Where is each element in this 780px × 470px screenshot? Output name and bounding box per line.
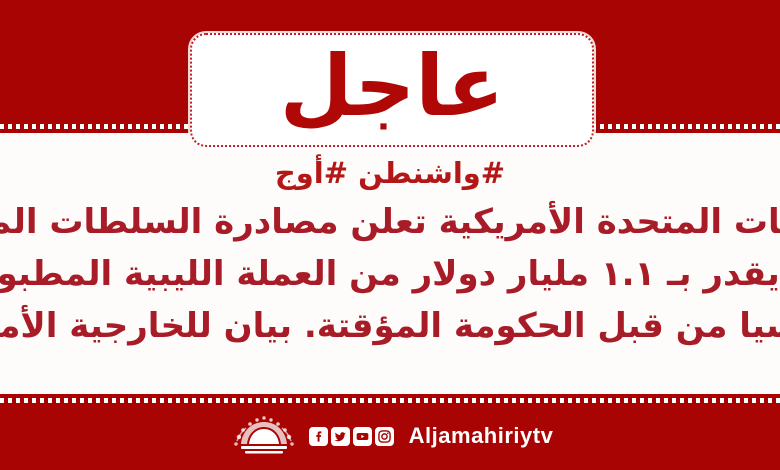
news-body-line-2: لما يقدر بـ ١.١ مليار دولار من العملة ال… — [0, 248, 780, 300]
facebook-icon[interactable] — [309, 427, 328, 446]
footer-red-banner: Aljamahiriytv — [0, 394, 780, 470]
footer-content: Aljamahiriytv — [0, 408, 780, 464]
urgent-label: عاجل — [280, 44, 504, 128]
news-body-line-1: ولايات المتحدة الأمريكية تعلن مصادرة الس… — [0, 196, 780, 248]
news-body: ولايات المتحدة الأمريكية تعلن مصادرة الس… — [0, 196, 780, 352]
hashtag-line: #واشنطن #أوج — [0, 158, 780, 190]
aljamahiriya-dome-logo — [227, 413, 301, 459]
social-icons-row — [309, 427, 394, 446]
news-body-line-3: روسيا من قبل الحكومة المؤقتة. بيان للخار… — [0, 300, 780, 352]
twitter-icon[interactable] — [331, 427, 350, 446]
youtube-icon[interactable] — [353, 427, 372, 446]
instagram-icon[interactable] — [375, 427, 394, 446]
breaking-news-card: عاجل #واشنطن #أوج ولايات المتحدة الأمريك… — [0, 0, 780, 470]
brand-name: Aljamahiriytv — [409, 423, 554, 449]
urgent-label-box: عاجل — [190, 33, 594, 147]
footer-dotted-divider — [0, 398, 780, 403]
